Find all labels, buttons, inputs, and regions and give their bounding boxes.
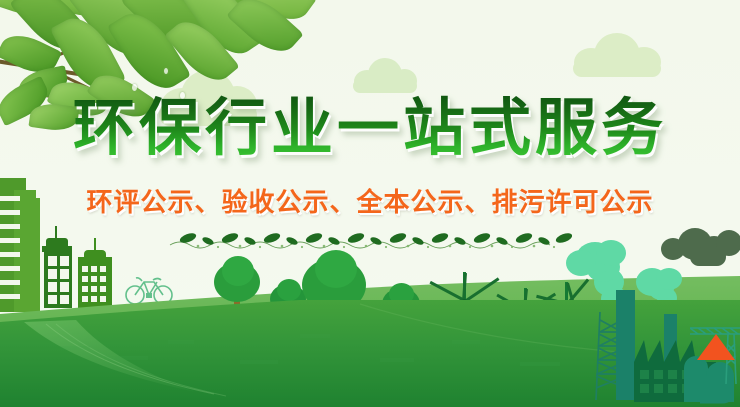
factory-pipe [700,386,740,407]
banner-title-area: 环保行业一站式服务 [0,92,740,164]
leaf-vine-divider [168,232,572,254]
banner-subtitle-area: 环评公示、验收公示、全本公示、排污许可公示 [0,186,740,220]
eco-industry-banner: 环保行业一站式服务 环评公示、验收公示、全本公示、排污许可公示 [0,0,740,407]
cloud-icon-right [572,32,664,76]
factory-chimney-tall [616,290,635,400]
banner-title: 环保行业一站式服务 [73,92,667,164]
crane-marker-icon [697,334,735,360]
cloud-icon-center [352,57,420,93]
banner-subtitle: 环评公示、验收公示、全本公示、排污许可公示 [86,186,653,220]
